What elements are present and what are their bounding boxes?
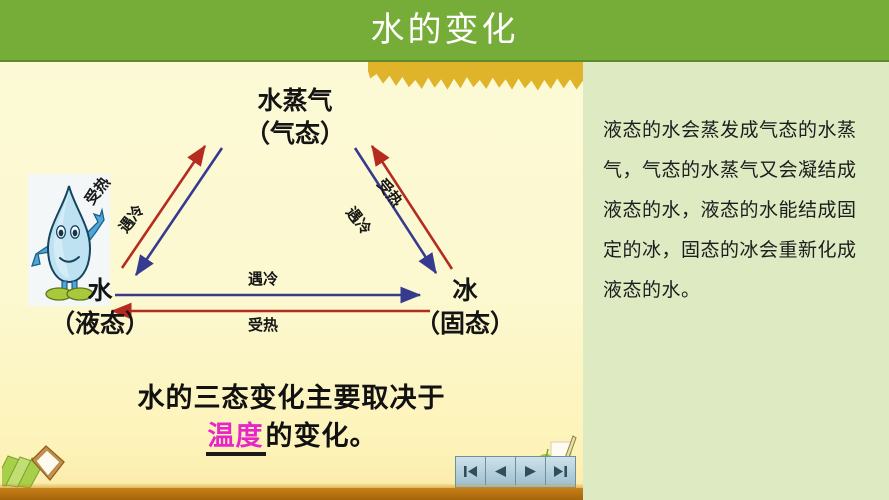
conclusion-suffix: 的变化。 [266,421,378,452]
node-water-vapor-line2: （气态） [200,117,390,150]
arrow-vapor-to-ice [355,148,436,273]
arrow-ice-to-vapor [372,146,452,269]
node-liquid-water-line1: 水 [30,274,170,307]
nav-last-button[interactable] [546,457,575,485]
arrow-label-water-to-ice: 遇冷 [248,268,278,289]
right-explanation-panel: 液态的水会蒸发成气态的水蒸气，气态的水蒸气又会凝结成液态的水，液态的水能结成固定… [583,62,889,500]
nav-previous-button[interactable] [486,457,516,485]
conclusion-prefix: 水的三态变化主要取决于 [138,383,446,414]
desk-surface [0,488,583,500]
arrow-label-ice-to-water: 受热 [248,314,278,335]
node-ice-line2: （固态） [390,307,540,340]
arrow-label-ice-to-vapor: 受热 [372,174,407,211]
skip-to-start-icon [462,464,479,479]
page-title: 水的变化 [0,5,889,55]
nav-first-button[interactable] [456,457,486,485]
arrow-label-vapor-to-ice: 遇冷 [341,202,376,239]
books-decoration [2,440,76,488]
explanation-paragraph: 液态的水会蒸发成气态的水蒸气，气态的水蒸气又会凝结成液态的水，液态的水能结成固定… [603,110,871,310]
previous-icon [492,464,509,479]
node-liquid-water: 水 （液态） [30,274,170,340]
arrow-label-vapor-to-water: 遇冷 [113,200,148,237]
arrow-vapor-to-water [136,148,222,275]
conclusion-sentence: 水的三态变化主要取决于 温度的变化。 [0,380,583,456]
slide-header: 水的变化 [0,0,889,62]
node-ice: 冰 （固态） [390,274,540,340]
node-water-vapor: 水蒸气 （气态） [200,84,390,150]
node-water-vapor-line1: 水蒸气 [200,84,390,117]
left-content-panel: 水蒸气 （气态） 水 （液态） 冰 （固态） 受热 遇冷 受热 遇冷 遇冷 受热… [0,62,583,500]
books-icon [2,440,76,488]
skip-to-end-icon [552,464,569,479]
slide-root: 水的变化 [0,0,889,500]
node-liquid-water-line2: （液态） [30,307,170,340]
torn-paper-edge-decoration [368,62,583,92]
conclusion-blank-answer: 温度 [206,421,266,456]
nav-next-button[interactable] [516,457,546,485]
node-ice-line1: 冰 [390,274,540,307]
next-icon [522,464,539,479]
